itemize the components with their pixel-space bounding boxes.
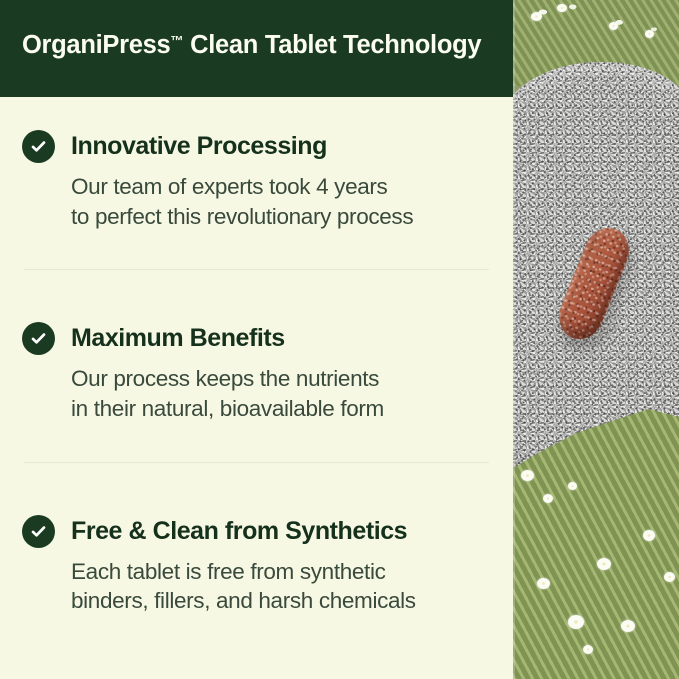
flower-icon: [521, 470, 534, 481]
feature-body-line: Our process keeps the nutrients: [71, 364, 495, 394]
flower-icon: [537, 578, 550, 589]
check-circle-icon: [22, 130, 55, 163]
feature-item-maximum-benefits: Maximum Benefits Our process keeps the n…: [0, 322, 513, 423]
feature-body: Our process keeps the nutrients in their…: [71, 364, 495, 423]
photo-layer: [513, 0, 679, 679]
check-circle-icon: [22, 322, 55, 355]
feature-list: Innovative Processing Our team of expert…: [0, 97, 513, 679]
text-panel: OrganiPress™ Clean Tablet Technology Inn…: [0, 0, 513, 679]
feature-item-free-clean-from-synthetics: Free & Clean from Synthetics Each tablet…: [0, 515, 513, 616]
feature-heading-row: Maximum Benefits: [22, 322, 495, 355]
feature-body-line: binders, fillers, and harsh chemicals: [71, 586, 495, 616]
header-band: OrganiPress™ Clean Tablet Technology: [0, 0, 513, 97]
feature-body-line: Each tablet is free from synthetic: [71, 557, 495, 587]
trademark-symbol: ™: [170, 33, 183, 48]
feature-heading-row: Innovative Processing: [22, 130, 495, 163]
feature-divider: [24, 269, 489, 270]
flower-icon: [568, 482, 577, 490]
flower-icon: [621, 620, 635, 632]
product-photo: [513, 0, 679, 679]
title-rest: Clean Tablet Technology: [183, 31, 481, 59]
feature-body-line: Our team of experts took 4 years: [71, 172, 495, 202]
feature-title: Free & Clean from Synthetics: [71, 518, 407, 546]
feature-body-line: to perfect this revolutionary process: [71, 202, 495, 232]
flower-icon: [568, 615, 584, 629]
flower-icon: [643, 530, 655, 541]
feature-divider: [24, 462, 489, 463]
feature-body: Our team of experts took 4 years to perf…: [71, 172, 495, 231]
promo-card: OrganiPress™ Clean Tablet Technology Inn…: [0, 0, 679, 679]
flower-icon: [597, 558, 611, 570]
feature-heading-row: Free & Clean from Synthetics: [22, 515, 495, 548]
flower-icon: [543, 494, 553, 503]
flower-icon: [609, 22, 618, 30]
check-circle-icon: [22, 515, 55, 548]
feature-body-line: in their natural, bioavailable form: [71, 394, 495, 424]
feature-body: Each tablet is free from synthetic binde…: [71, 557, 495, 616]
flower-icon: [664, 572, 675, 582]
photo-left-edge: [513, 0, 515, 679]
brand-name: OrganiPress: [22, 31, 170, 59]
feature-title: Maximum Benefits: [71, 325, 285, 353]
feature-title: Innovative Processing: [71, 133, 327, 161]
flower-icon: [557, 4, 567, 12]
feature-item-innovative-processing: Innovative Processing Our team of expert…: [0, 130, 513, 231]
flower-icon: [645, 30, 654, 38]
flower-icon: [531, 12, 542, 21]
flower-icon: [583, 645, 593, 654]
page-title: OrganiPress™ Clean Tablet Technology: [22, 31, 481, 60]
